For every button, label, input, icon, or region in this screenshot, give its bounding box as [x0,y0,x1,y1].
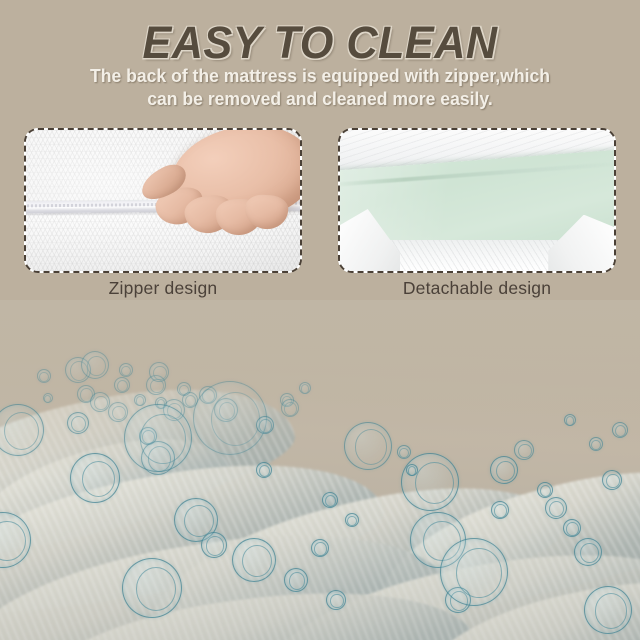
bubble [108,402,128,422]
bubble [284,568,308,592]
photo-zipper-design [26,130,300,271]
bubble [37,369,51,383]
bubble [256,462,272,478]
bubble [67,412,89,434]
product-infographic: EASY TO CLEAN The back of the mattress i… [0,0,640,640]
bubble [326,590,346,610]
bubble [564,414,576,426]
bubble [584,586,632,634]
bubble [299,382,311,394]
bubble [193,381,267,455]
bubble [122,558,182,618]
bubble [81,351,109,379]
bubble [545,497,567,519]
bubble [345,513,359,527]
page-subtitle: The back of the mattress is equipped wit… [20,64,620,110]
bubble [177,382,191,396]
dashed-frame-zipper [24,128,302,273]
bubble [406,464,418,476]
bubble [602,470,622,490]
bubble [149,362,169,382]
bubble [612,422,628,438]
bubble [256,416,274,434]
bubble [281,399,299,417]
photo-detachable-design [340,130,614,271]
bubble [589,437,603,451]
header-section: EASY TO CLEAN The back of the mattress i… [0,0,640,320]
bubble [70,453,120,503]
bubble [397,445,411,459]
bubble [43,393,53,403]
bubble [401,453,459,511]
bubble [563,519,581,537]
caption-detachable-design: Detachable design [338,278,616,299]
bubble [311,539,329,557]
subtitle-line-2: can be removed and cleaned more easily. [35,87,605,110]
bubble [124,404,192,472]
bubble [232,538,276,582]
bubble [201,532,227,558]
bubble [514,440,534,460]
caption-zipper-design: Zipper design [24,278,302,299]
bubble [491,501,509,519]
panel-detachable-design: Detachable design [338,128,616,273]
page-title: EASY TO CLEAN [13,17,627,69]
bubble [119,363,133,377]
feature-panels: Zipper design Detachable design [0,128,640,303]
bubble [537,482,553,498]
bubble [440,538,508,606]
bubble [344,422,392,470]
panel-zipper-design: Zipper design [24,128,302,273]
bubble [90,392,110,412]
hand-graphic [147,130,300,248]
bubble [574,538,602,566]
bubble [322,492,338,508]
bubble-fabric-scene [0,300,640,640]
bubble [490,456,518,484]
dashed-frame-detachable [338,128,616,273]
subtitle-line-1: The back of the mattress is equipped wit… [35,64,605,87]
bubble [134,394,146,406]
bubble [114,377,130,393]
